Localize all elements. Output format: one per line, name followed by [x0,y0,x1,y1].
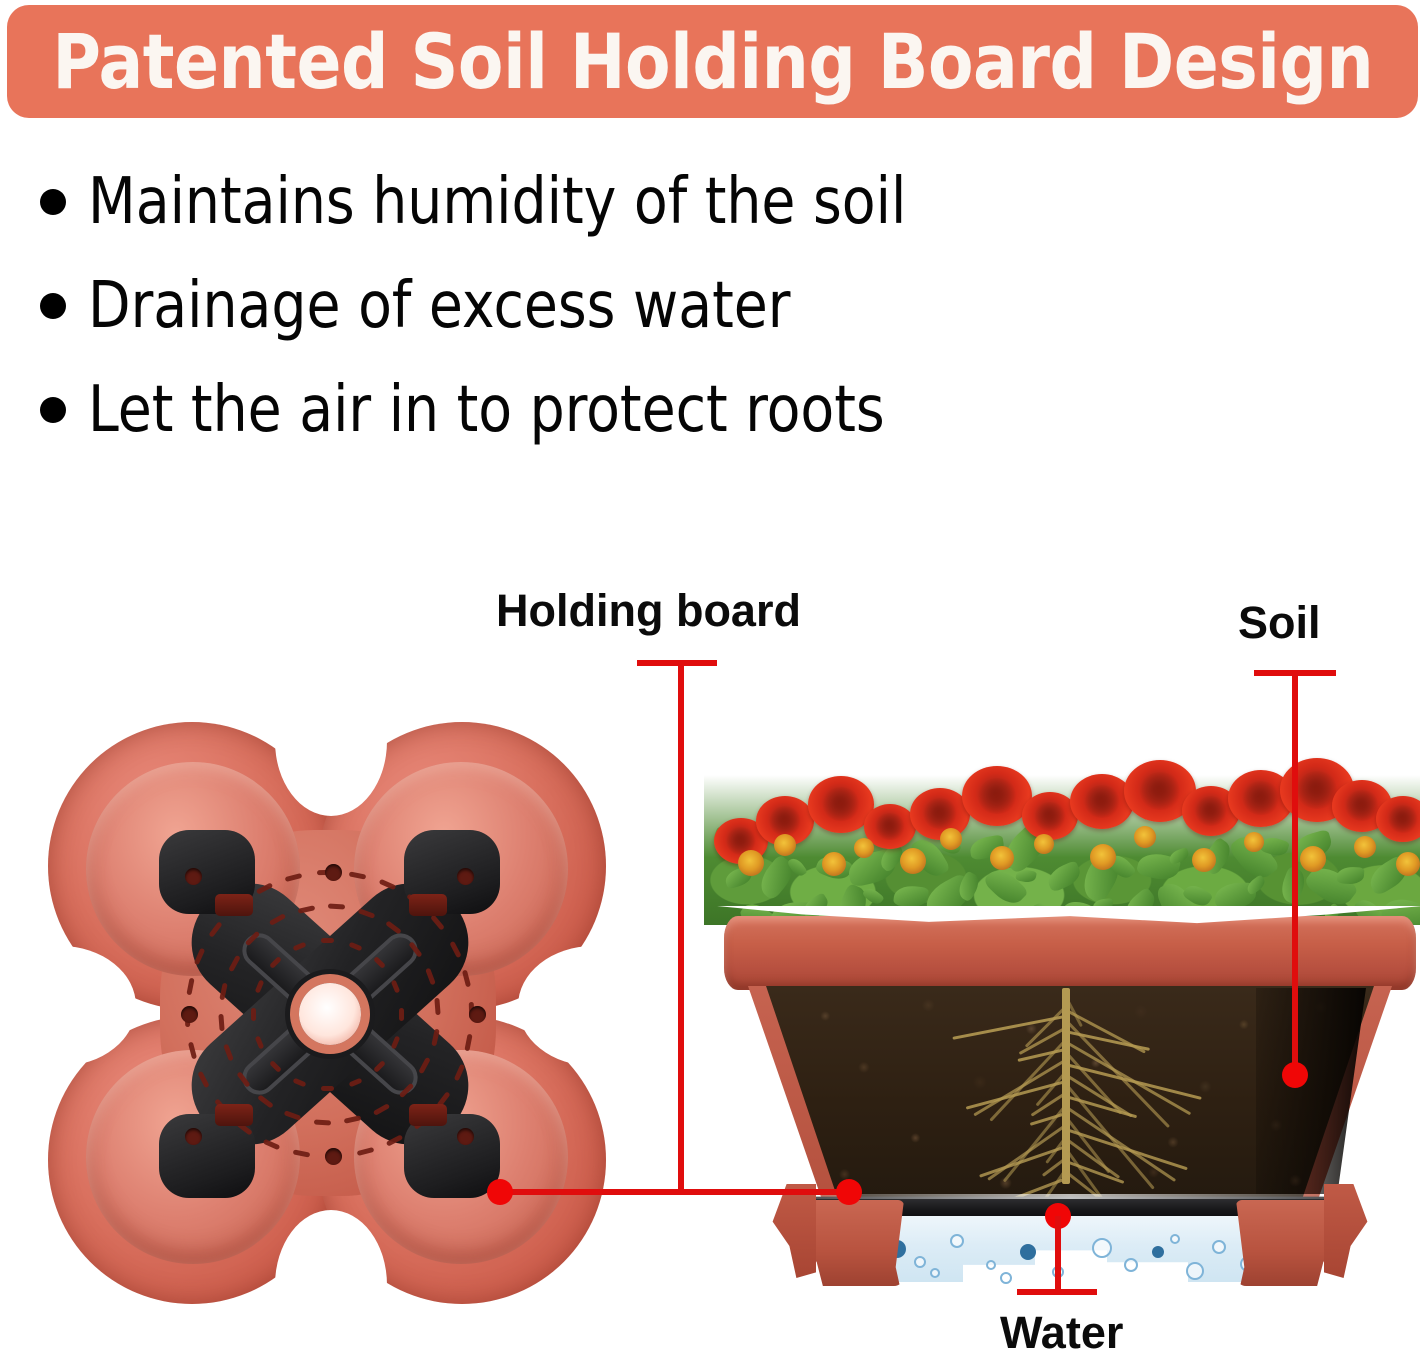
water-bubble [986,1260,996,1270]
flower-bud [774,834,796,856]
holding-board-slot [356,1147,374,1156]
holding-board-slot [285,872,303,881]
water-bubble [1092,1238,1112,1258]
bullet-icon [40,189,66,215]
holding-board-vent [409,894,447,916]
holding-board-slot [321,938,334,943]
holding-board-screw-hole [325,864,342,881]
page-title: Patented Soil Holding Board Design [52,24,1373,100]
holding-board-screw-hole [457,1128,474,1145]
flower-bud [1354,836,1376,858]
flower-bud [1396,852,1420,876]
holding-board-slot [314,1119,331,1125]
water-bubble [930,1268,940,1278]
holding-board-screw-hole [469,1006,486,1023]
water-bubble [1170,1234,1180,1244]
holding-board-insert [157,828,502,1200]
holding-board-slot [462,970,471,988]
water-bubble [1212,1240,1226,1254]
holding-board-slot [187,1041,196,1059]
holding-board-slot [321,1086,334,1091]
water-bubble [1152,1246,1164,1258]
flower-bud [900,848,926,874]
water-bubble [914,1256,926,1268]
callout-cap-holding-board [637,660,717,666]
pot-rim [724,916,1416,990]
holding-board-screw-hole [457,868,474,885]
water-reservoir [846,1216,1296,1282]
callout-stem-soil [1292,670,1298,1075]
holding-board-vent [215,1104,253,1126]
holding-board-slot [251,1008,256,1021]
planter-notch-bottom [275,1210,387,1360]
flower-bud [1192,848,1216,872]
feature-label: Let the air in to protect roots [88,378,885,442]
feature-list: Maintains humidity of the soil Drainage … [34,150,1134,462]
planter-notch-right [518,946,668,1066]
bullet-icon [40,293,66,319]
holding-board-slot [297,905,315,914]
holding-board-screw-hole [181,1006,198,1023]
callout-dot-holding-board-right [836,1179,862,1205]
holding-board-slot [344,1116,362,1125]
flower-bud [990,846,1014,870]
callout-label-water: Water [1000,1310,1123,1355]
callout-stem-holding-board [678,660,684,1192]
flower-canopy [704,700,1420,925]
holding-board-slot [399,1008,404,1021]
planter-notch-top [275,666,387,816]
holding-board-highlight [804,1194,1336,1199]
flower-bud [1134,826,1156,848]
callout-dot-holding-board-left [487,1179,513,1205]
water-bubble [950,1234,964,1248]
holding-board-slot [434,998,440,1015]
list-item: Drainage of excess water [34,254,1134,358]
root-branch [966,1080,1068,1110]
holding-board-screw-hole [185,868,202,885]
water-bubble [1186,1262,1204,1280]
holding-board-slot [186,978,194,996]
callout-dot-soil [1282,1062,1308,1088]
list-item: Maintains humidity of the soil [34,150,1134,254]
water-bubble [1124,1258,1138,1272]
feature-label: Maintains humidity of the soil [88,170,906,234]
callout-label-soil: Soil [1238,600,1321,645]
callout-label-holding-board: Holding board [496,588,801,633]
holding-board-vent [409,1104,447,1126]
flower-bud [940,828,962,850]
bullet-icon [40,397,66,423]
holding-board-slot [348,871,366,879]
callout-bridge-holding-board [500,1189,852,1195]
holding-board-slot [328,904,345,910]
flower-bud [1244,832,1264,852]
flower-bud [1034,834,1054,854]
water-bubble [1000,1272,1012,1284]
root-branch [1067,1128,1188,1170]
holding-board-screw-hole [325,1148,342,1165]
root-branch [979,1144,1068,1177]
header-banner: Patented Soil Holding Board Design [7,5,1418,118]
drainage-hole [299,983,361,1045]
holding-board-vent [215,894,253,916]
list-item: Let the air in to protect roots [34,358,1134,462]
feature-label: Drainage of excess water [88,274,790,338]
flower-bud [822,852,846,876]
callout-stem-water [1055,1216,1061,1292]
callout-cap-water [1017,1289,1097,1295]
chrysanthemum-bloom [910,788,970,840]
holding-board-slot [465,1033,473,1051]
flower-bud [1300,846,1326,872]
holding-board-slot [219,1014,225,1031]
flower-bud [854,838,874,858]
planter-top-view-image [42,718,612,1308]
water-bubble [1020,1244,1036,1260]
flower-bud [738,850,764,876]
flower-bud [1090,844,1116,870]
holding-board-screw-hole [185,1128,202,1145]
holding-board-slot [293,1150,311,1158]
